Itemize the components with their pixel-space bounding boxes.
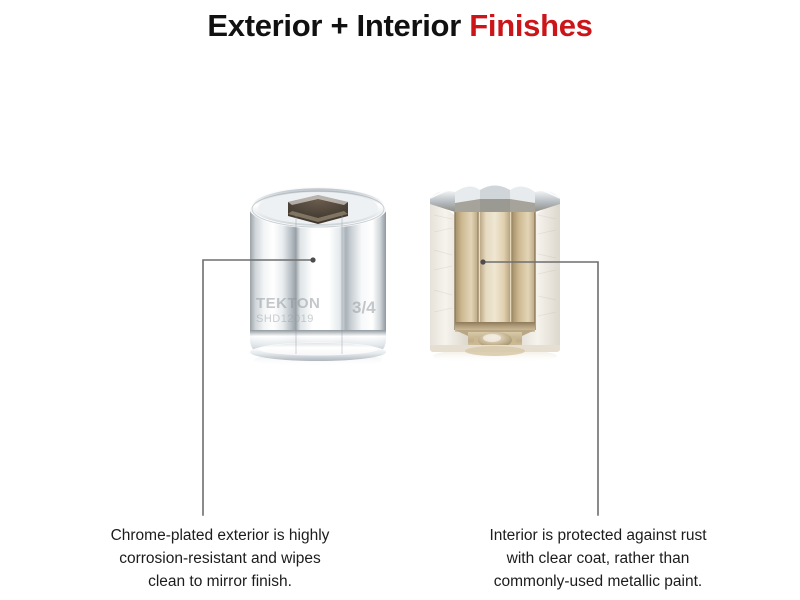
leader-line-left xyxy=(203,257,316,515)
infographic-canvas: Exterior + Interior Finishes .title .t-d… xyxy=(0,0,800,600)
leader-dot-right xyxy=(480,259,485,264)
caption-line: Interior is protected against rust xyxy=(428,524,768,547)
caption-line: with clear coat, rather than xyxy=(428,547,768,570)
caption-line: clean to mirror finish. xyxy=(52,570,388,593)
caption-line: corrosion-resistant and wipes xyxy=(52,547,388,570)
callout-leader-lines xyxy=(0,0,800,600)
caption-line: commonly-used metallic paint. xyxy=(428,570,768,593)
callout-right-caption: Interior is protected against rust with … xyxy=(428,524,768,593)
caption-line: Chrome-plated exterior is highly xyxy=(52,524,388,547)
leader-dot-left xyxy=(310,257,315,262)
leader-line-right xyxy=(480,259,598,515)
callout-left-caption: Chrome-plated exterior is highly corrosi… xyxy=(52,524,388,593)
